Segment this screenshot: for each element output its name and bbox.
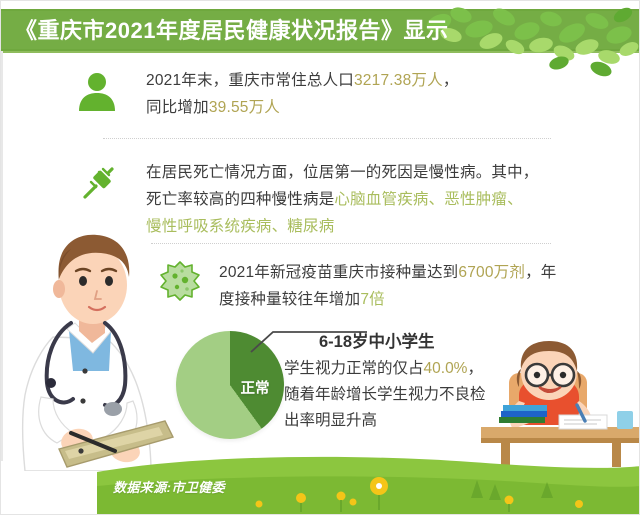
vaccine-dose-value: 6700万剂 [458,264,525,281]
mortality-line2-prefix: 死亡率较高的四种慢性病是 [146,191,334,208]
mortality-line-2: 死亡率较高的四种慢性病是心脑血管疾病、恶性肿瘤、 [146,186,624,213]
vision-normal-percent: 40.0% [424,360,468,377]
syringe-icon [77,164,117,204]
doctor-with-clipboard-illustration [1,219,181,471]
vaccine-line2-prefix: 度接种量较往年增加 [219,291,360,308]
divider-1 [103,138,551,139]
pie-slice-label-normal: 正常 [228,377,282,398]
population-total-value: 3217.38万人 [354,72,443,89]
population-growth-value: 39.55万人 [209,99,280,116]
population-line1-prefix: 2021年末，重庆市常住总人口 [146,72,354,89]
population-line2-prefix: 同比增加 [146,99,209,116]
vaccine-line1-prefix: 2021年新冠疫苗重庆市接种量达到 [219,264,458,281]
header-rule [1,51,640,53]
disease-names-part1: 心脑血管疾病、恶性肿瘤、 [334,191,522,208]
pie-section-body: 学生视力正常的仅占40.0%， 随着年龄增长学生视力不良检 出率明显升高 [284,356,499,434]
vaccine-line-2: 度接种量较往年增加7倍 [219,286,619,313]
infographic-poster: 《重庆市2021年度居民健康状况报告》显示 2021年末，重庆市常住总人口321… [0,0,640,515]
mortality-line-1: 在居民死亡情况方面，位居第一的死因是慢性病。其中， [146,159,624,186]
vision-line-1: 学生视力正常的仅占40.0%， [284,356,499,382]
section-population-text: 2021年末，重庆市常住总人口3217.38万人， 同比增加39.55万人 [146,67,616,121]
population-line1-suffix: ， [443,72,459,89]
page-title: 《重庆市2021年度居民健康状况报告》显示 [15,15,485,47]
vision-line1-prefix: 学生视力正常的仅占 [284,360,424,377]
person-icon [79,73,115,111]
vaccine-increase-value: 7倍 [360,291,385,308]
population-line-2: 同比增加39.55万人 [146,94,616,121]
student-reading-at-desk-illustration [481,339,640,467]
vision-line-3: 出率明显升高 [284,408,499,434]
vision-line-2: 随着年龄增长学生视力不良检 [284,382,499,408]
divider-2 [151,243,551,244]
section-vaccine-text: 2021年新冠疫苗重庆市接种量达到6700万剂，年 度接种量较往年增加7倍 [219,259,619,313]
vaccine-line1-suffix: ，年 [525,264,556,281]
population-line-1: 2021年末，重庆市常住总人口3217.38万人， [146,67,616,94]
grass-with-flowers-strip [1,452,640,514]
data-source-label: 数据来源:市卫健委 [113,477,225,496]
disease-names-part2: 慢性呼吸系统疾病、糖尿病 [146,213,624,240]
section-mortality-text: 在居民死亡情况方面，位居第一的死因是慢性病。其中， 死亡率较高的四种慢性病是心脑… [146,159,624,240]
vaccine-line-1: 2021年新冠疫苗重庆市接种量达到6700万剂，年 [219,259,619,286]
pie-section-heading: 6-18岁中小学生 [319,328,435,352]
